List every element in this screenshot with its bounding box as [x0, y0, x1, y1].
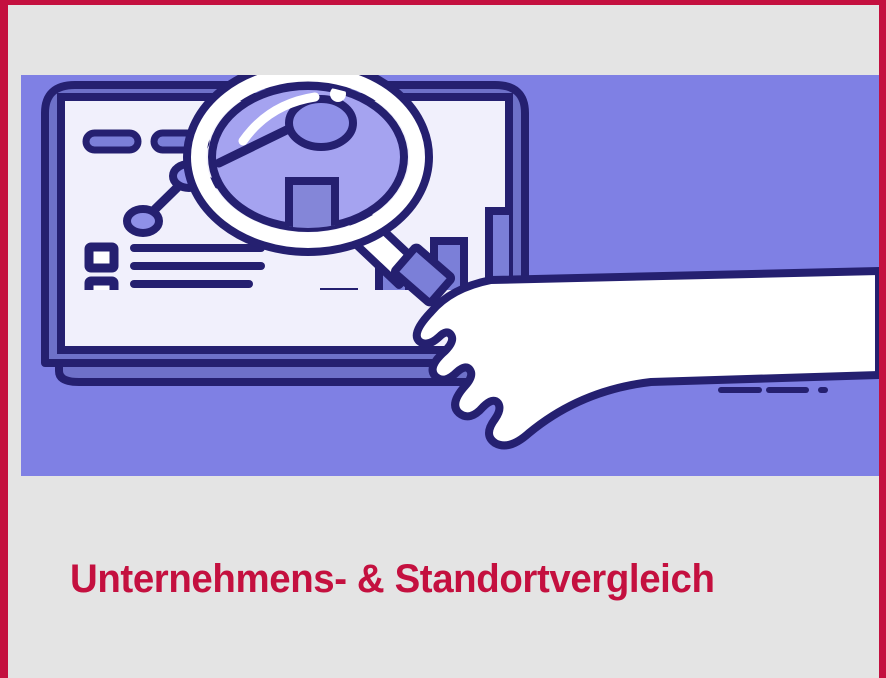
hero-illustration — [21, 75, 879, 476]
content-card: Unternehmens- & Standortvergleich — [0, 0, 886, 678]
hero-illustration-svg — [21, 75, 879, 476]
toolbar-pill-1 — [86, 133, 138, 150]
magnified-node — [289, 99, 353, 147]
line-node-1 — [127, 209, 159, 233]
checkbox-1 — [89, 247, 114, 268]
page-title: Unternehmens- & Standortvergleich — [70, 553, 828, 605]
